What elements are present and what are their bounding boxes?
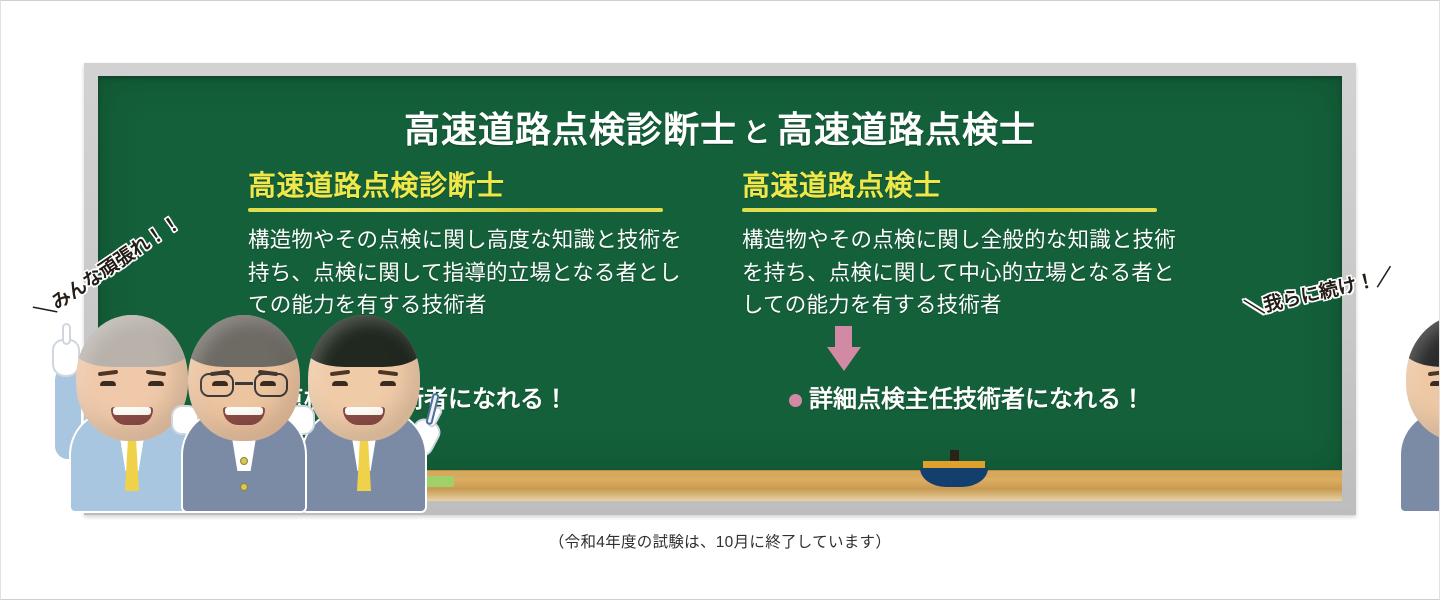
page-title-conjunction: と bbox=[743, 118, 771, 148]
person-head bbox=[308, 315, 420, 441]
page-title-right: 高速道路点検士 bbox=[777, 109, 1036, 150]
heading-underline-left bbox=[248, 208, 663, 212]
arrow-down-icon-right bbox=[827, 326, 861, 371]
person-left-2 bbox=[169, 323, 319, 513]
page-title: 高速道路点検診断士と高速道路点検士 bbox=[98, 101, 1342, 153]
page-title-left: 高速道路点検診断士 bbox=[404, 109, 737, 150]
column-body-left: 構造物やその点検に関し高度な知識と技術を持ち、点検に関して指導的立場となる者とし… bbox=[248, 224, 690, 322]
result-cell-right: 詳細点検主任技術者になれる！ bbox=[715, 384, 1192, 416]
exam-status-caption: （令和4年度の試験は、10月に終了しています） bbox=[1, 530, 1439, 552]
person-right-1 bbox=[1387, 323, 1440, 513]
column-heading-left: 高速道路点検診断士 bbox=[248, 164, 690, 204]
suit-button bbox=[240, 483, 248, 491]
column-inspector: 高速道路点検士 構造物やその点検に関し全般的な知識と技術を持ち、点検に関して中心… bbox=[742, 164, 1184, 322]
suit-button bbox=[240, 457, 248, 465]
person-head bbox=[188, 315, 300, 441]
page-root: 高速道路点検診断士と高速道路点検士 高速道路点検診断士 構造物やその点検に関し高… bbox=[0, 0, 1440, 600]
definition-columns: 高速道路点検診断士 構造物やその点検に関し高度な知識と技術を持ち、点検に関して指… bbox=[248, 164, 1192, 322]
column-inspection-diagnostician: 高速道路点検診断士 構造物やその点検に関し高度な知識と技術を持ち、点検に関して指… bbox=[248, 164, 690, 322]
result-text-right: 詳細点検主任技術者になれる！ bbox=[789, 384, 1192, 416]
blackboard-eraser-icon bbox=[920, 460, 988, 487]
arrow-cell-right bbox=[705, 326, 1192, 371]
column-heading-right: 高速道路点検士 bbox=[742, 164, 1184, 204]
heading-underline-right bbox=[742, 208, 1157, 212]
column-body-right: 構造物やその点検に関し全般的な知識と技術を持ち、点検に関して中心的立場となる者と… bbox=[742, 224, 1184, 322]
